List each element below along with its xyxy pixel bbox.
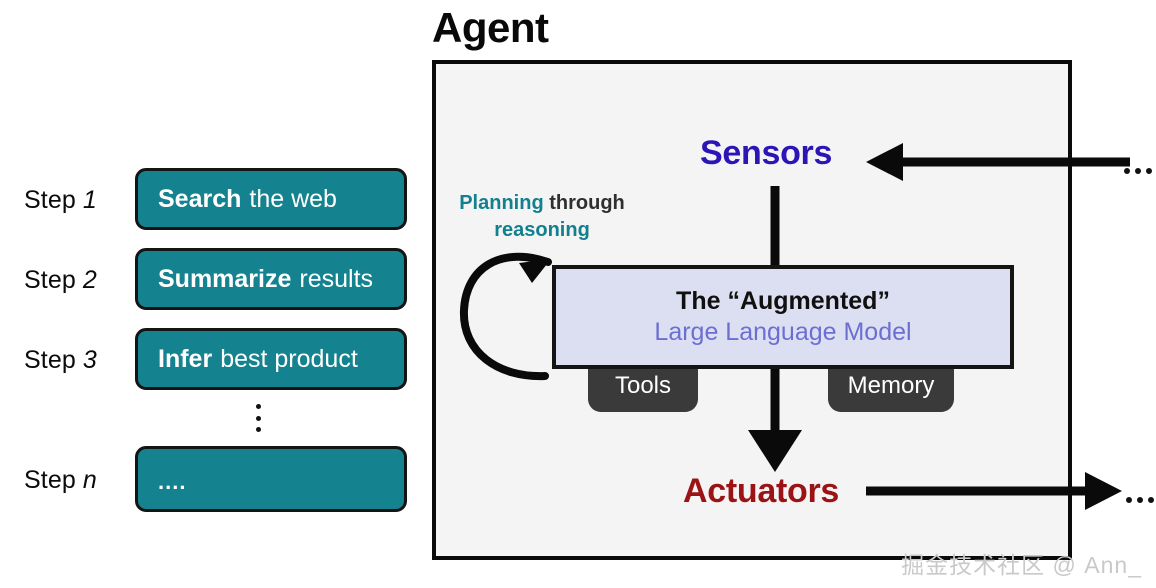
steps-vertical-ellipsis-icon (256, 404, 261, 432)
step-label-3: Step 3 (24, 346, 97, 375)
planning-word-through: through (549, 192, 625, 214)
planning-word-reasoning: reasoning (494, 219, 590, 241)
step-label-n: Step n (24, 466, 97, 495)
step-box-3[interactable]: Infer best product (135, 328, 407, 390)
llm-box[interactable]: The “Augmented” Large Language Model (552, 265, 1014, 369)
actuators-external-ellipsis-icon (1126, 497, 1154, 503)
step-box-1-bold: Search (158, 185, 241, 214)
step-label-1: Step 1 (24, 186, 97, 215)
step-box-1-rest: the web (249, 185, 337, 214)
external-output-arrowhead-icon (1085, 472, 1122, 510)
planning-word-planning: Planning (459, 192, 543, 214)
sensors-label: Sensors (700, 134, 832, 173)
diagram-canvas: Step 1 Search the web Step 2 Summarize r… (0, 0, 1156, 588)
step-box-2[interactable]: Summarize results (135, 248, 407, 310)
llm-title-augmented: The “Augmented” (676, 287, 890, 316)
page-title: Agent (432, 4, 549, 52)
step-box-1[interactable]: Search the web (135, 168, 407, 230)
watermark: 掘金技术社区 @ Ann_ (901, 546, 1142, 580)
step-box-2-rest: results (299, 265, 373, 294)
tab-memory-label: Memory (848, 372, 935, 400)
sensors-external-ellipsis-icon (1124, 168, 1152, 174)
tab-tools-label: Tools (615, 372, 671, 400)
actuators-label: Actuators (683, 472, 839, 511)
step-label-2: Step 2 (24, 266, 97, 295)
step-box-3-bold: Infer (158, 345, 212, 374)
step-box-n-bold: .... (158, 469, 186, 495)
step-box-2-bold: Summarize (158, 265, 291, 294)
llm-subtitle-model: Large Language Model (654, 317, 911, 347)
step-box-n[interactable]: .... (135, 446, 407, 512)
planning-annotation: Planning through reasoning (447, 190, 637, 244)
step-box-3-rest: best product (220, 345, 358, 374)
